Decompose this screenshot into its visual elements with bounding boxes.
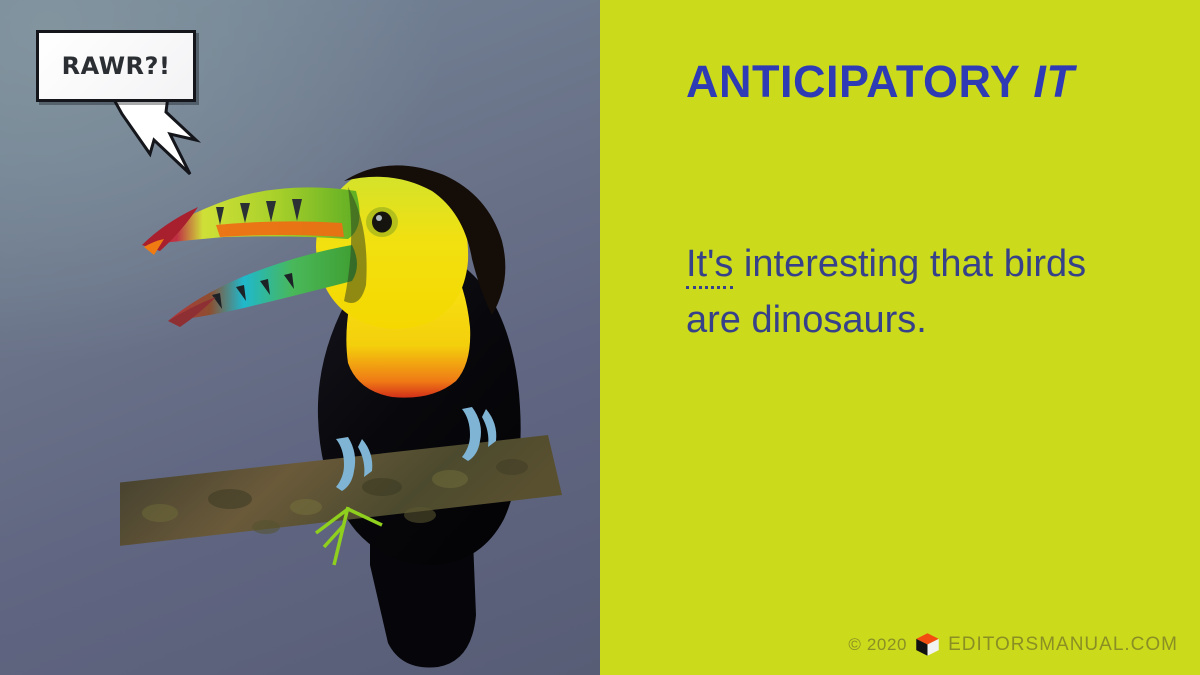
toucan-beak-stripe bbox=[216, 221, 344, 237]
speech-bubble: RAWR?! bbox=[36, 30, 196, 102]
cube-logo bbox=[915, 632, 940, 657]
footer-credit: © 2020 EDITORSMANUAL.COM bbox=[848, 632, 1178, 657]
content-panel: ANTICIPATORY IT It's interesting that bi… bbox=[600, 0, 1200, 675]
toucan-eye-highlight bbox=[376, 215, 382, 221]
toucan-eye bbox=[372, 212, 392, 233]
speech-bubble-tail bbox=[110, 96, 220, 186]
toucan-illustration-panel: RAWR?! bbox=[0, 0, 600, 675]
speech-bubble-text: RAWR?! bbox=[62, 52, 171, 80]
slide-canvas: RAWR?! ANTICIPATORY IT It's interesting … bbox=[0, 0, 1200, 675]
highlighted-it-word: It's bbox=[686, 243, 733, 289]
headline-italic-text: IT bbox=[1033, 56, 1074, 107]
example-sentence: It's interesting that birds are dinosaur… bbox=[686, 236, 1126, 348]
page-title: ANTICIPATORY IT bbox=[686, 56, 1074, 108]
copyright-text: © 2020 bbox=[848, 635, 907, 655]
site-name: EDITORSMANUAL.COM bbox=[948, 634, 1178, 656]
headline-main-text: ANTICIPATORY bbox=[686, 56, 1020, 107]
example-sentence-rest: interesting that birds are dinosaurs. bbox=[686, 243, 1086, 341]
